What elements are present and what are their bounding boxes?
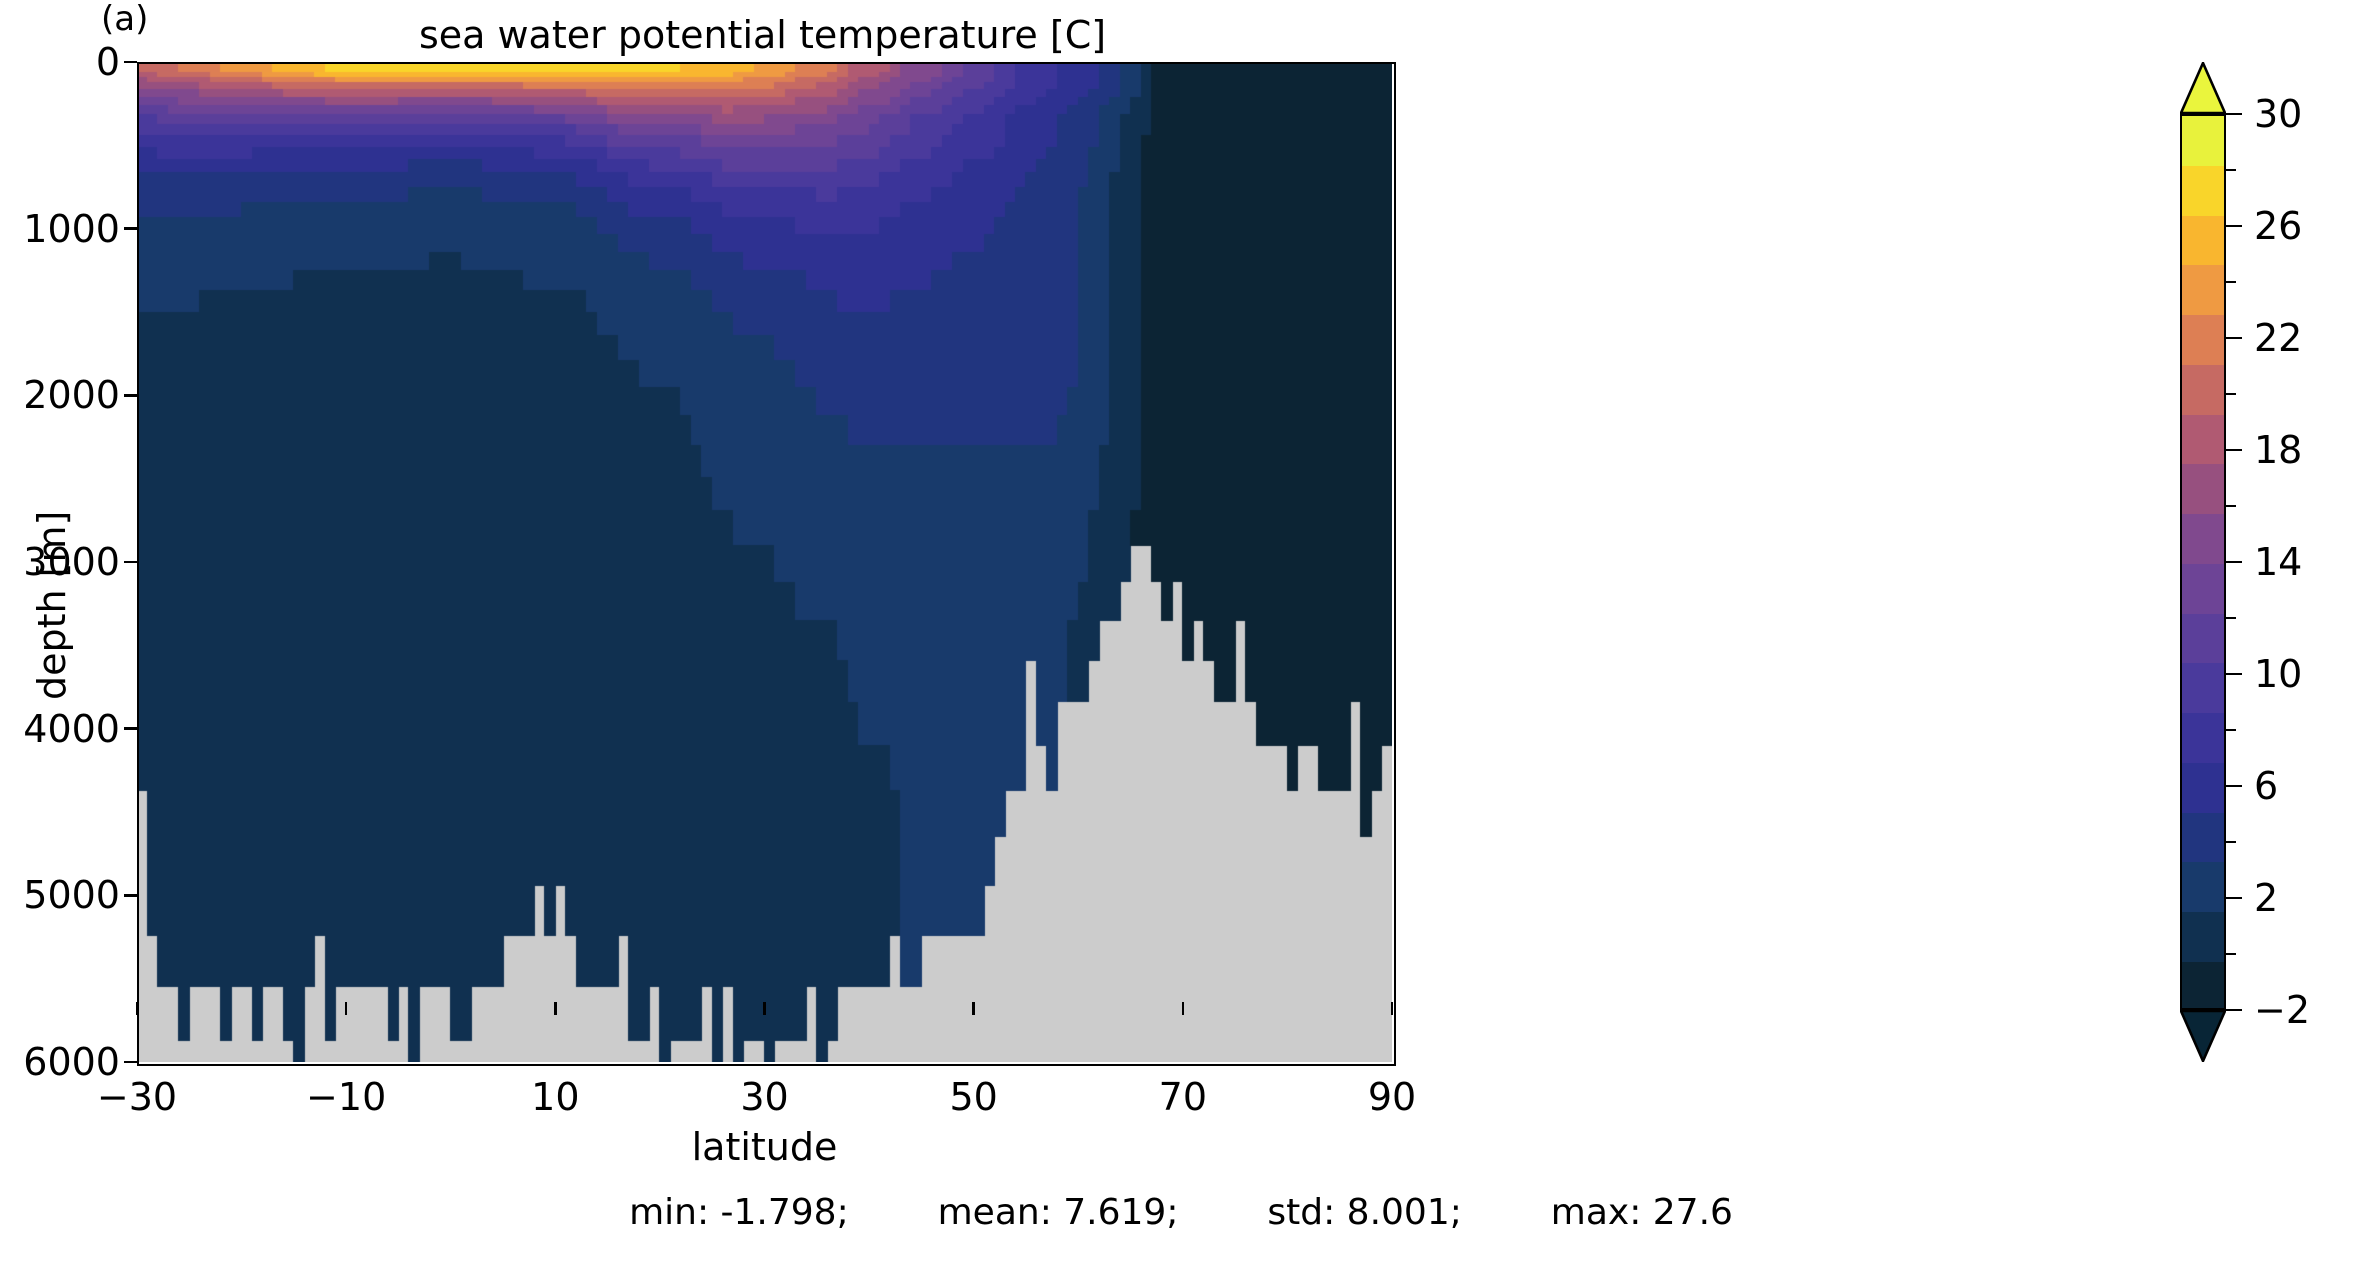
colorbar-minor-tick (2226, 617, 2236, 620)
colorbar-tick (2226, 673, 2242, 676)
x-tick (136, 1002, 139, 1015)
y-tick (124, 1061, 137, 1064)
y-tick (124, 727, 137, 730)
x-tick-label: 90 (1368, 1075, 1416, 1119)
stat-min: min: -1.798; (629, 1192, 849, 1233)
colorbar-minor-tick (2226, 729, 2236, 732)
y-tick-label: 4000 (23, 707, 120, 751)
colorbar-tick (2226, 337, 2242, 340)
x-tick (1391, 1002, 1394, 1015)
y-tick-label: 0 (96, 40, 120, 84)
y-tick (124, 61, 137, 64)
x-tick-label: −10 (306, 1075, 386, 1119)
colorbar-tick-label: 10 (2254, 652, 2302, 696)
x-tick-label: 50 (949, 1075, 997, 1119)
y-tick-label: 1000 (23, 207, 120, 251)
colorbar-minor-tick (2226, 841, 2236, 844)
colorbar-minor-tick (2226, 393, 2236, 396)
temperature-heatmap (137, 62, 1392, 1062)
y-tick-label: 5000 (23, 873, 120, 917)
colorbar-tick (2226, 449, 2242, 452)
x-tick (972, 1002, 975, 1015)
y-tick (124, 894, 137, 897)
y-tick (124, 394, 137, 397)
y-tick-label: 2000 (23, 373, 120, 417)
x-tick-label: 30 (740, 1075, 788, 1119)
colorbar-tick (2226, 561, 2242, 564)
temperature-section-plot (137, 62, 1392, 1062)
y-tick (124, 227, 137, 230)
stat-std: std: 8.001; (1267, 1192, 1461, 1233)
colorbar-ticks: −226101418222630 (2180, 62, 2300, 1062)
colorbar-tick-label: 18 (2254, 428, 2302, 472)
colorbar-tick (2226, 113, 2242, 116)
x-tick-label: 70 (1159, 1075, 1207, 1119)
colorbar-tick (2226, 1009, 2242, 1012)
stat-mean: mean: 7.619; (938, 1192, 1179, 1233)
colorbar-tick-label: 6 (2254, 764, 2278, 808)
x-tick (1182, 1002, 1185, 1015)
x-tick (554, 1002, 557, 1015)
colorbar-tick-label: 2 (2254, 876, 2278, 920)
colorbar-tick-label: 30 (2254, 92, 2302, 136)
x-tick (345, 1002, 348, 1015)
colorbar: −226101418222630 (2180, 62, 2226, 1062)
colorbar-tick-label: 22 (2254, 316, 2302, 360)
summary-statistics: min: -1.798; mean: 7.619; std: 8.001; ma… (0, 1192, 2362, 1233)
colorbar-minor-tick (2226, 505, 2236, 508)
colorbar-tick (2226, 897, 2242, 900)
colorbar-tick-label: −2 (2254, 988, 2310, 1032)
figure-canvas: (a) sea water potential temperature [C] … (0, 0, 2362, 1263)
y-tick (124, 561, 137, 564)
colorbar-minor-tick (2226, 953, 2236, 956)
colorbar-minor-tick (2226, 281, 2236, 284)
stat-max: max: 27.6 (1551, 1192, 1733, 1233)
colorbar-tick-label: 26 (2254, 204, 2302, 248)
colorbar-tick (2226, 785, 2242, 788)
y-tick-label: 6000 (23, 1040, 120, 1084)
x-axis-label: latitude (137, 1125, 1392, 1169)
x-tick (763, 1002, 766, 1015)
colorbar-tick-label: 14 (2254, 540, 2302, 584)
x-tick-label: 10 (531, 1075, 579, 1119)
y-axis-label: depth [m] (30, 511, 74, 700)
colorbar-tick (2226, 225, 2242, 228)
colorbar-minor-tick (2226, 169, 2236, 172)
plot-title: sea water potential temperature [C] (135, 16, 1390, 54)
